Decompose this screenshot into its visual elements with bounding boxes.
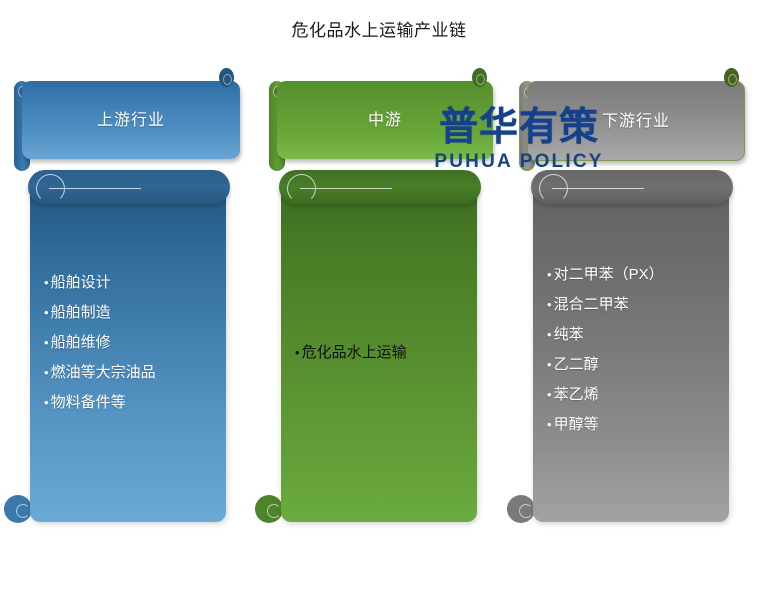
panel-upstream: 船舶设计 船舶制造 船舶维修 燃油等大宗油品 物料备件等	[30, 170, 226, 535]
list-item: 甲醇等	[547, 410, 719, 440]
list-downstream: 对二甲苯（PX） 混合二甲苯 纯苯 乙二醇 苯乙烯 甲醇等	[547, 260, 719, 440]
list-item: 纯苯	[547, 320, 719, 350]
list-item: 苯乙烯	[547, 380, 719, 410]
list-item: 物料备件等	[44, 388, 216, 418]
banner-body-downstream[interactable]: 下游行业	[527, 81, 745, 161]
column-midstream: 中游 危化品水上运输	[253, 0, 506, 612]
header-label-downstream: 下游行业	[602, 107, 670, 131]
banner-body-upstream[interactable]: 上游行业	[22, 81, 240, 159]
header-label-upstream: 上游行业	[97, 106, 165, 130]
column-upstream: 上游行业 船舶设计 船舶制造 船舶维修 燃油等大宗油品 物料备件等	[0, 0, 253, 612]
panel-scroll-curl-icon	[36, 174, 65, 203]
banner-knob-icon	[219, 68, 234, 87]
panel-bottom-curl-icon	[4, 495, 32, 523]
header-banner-upstream[interactable]: 上游行业	[14, 68, 240, 160]
list-item: 对二甲苯（PX）	[547, 260, 719, 290]
list-item: 船舶维修	[44, 328, 216, 358]
list-item: 船舶设计	[44, 268, 216, 298]
list-item: 危化品水上运输	[295, 338, 467, 368]
list-midstream: 危化品水上运输	[295, 338, 467, 368]
list-item: 乙二醇	[547, 350, 719, 380]
panel-bottom-curl-icon	[507, 495, 535, 523]
banner-knob-icon	[472, 68, 487, 87]
list-item: 燃油等大宗油品	[44, 358, 216, 388]
header-banner-midstream[interactable]: 中游	[269, 68, 493, 160]
list-item: 混合二甲苯	[547, 290, 719, 320]
list-upstream: 船舶设计 船舶制造 船舶维修 燃油等大宗油品 物料备件等	[44, 268, 216, 418]
list-item: 船舶制造	[44, 298, 216, 328]
banner-knob-icon	[724, 68, 739, 87]
panel-downstream: 对二甲苯（PX） 混合二甲苯 纯苯 乙二醇 苯乙烯 甲醇等	[533, 170, 729, 535]
header-banner-downstream[interactable]: 下游行业	[519, 68, 745, 160]
panel-scroll-curl-icon	[287, 174, 316, 203]
panel-scroll-curl-icon	[539, 174, 568, 203]
panel-midstream: 危化品水上运输	[281, 170, 477, 535]
header-label-midstream: 中游	[368, 106, 402, 130]
column-downstream: 下游行业 对二甲苯（PX） 混合二甲苯 纯苯 乙二醇 苯乙烯 甲醇等	[505, 0, 758, 612]
banner-body-midstream[interactable]: 中游	[277, 81, 493, 159]
panel-bottom-curl-icon	[255, 495, 283, 523]
